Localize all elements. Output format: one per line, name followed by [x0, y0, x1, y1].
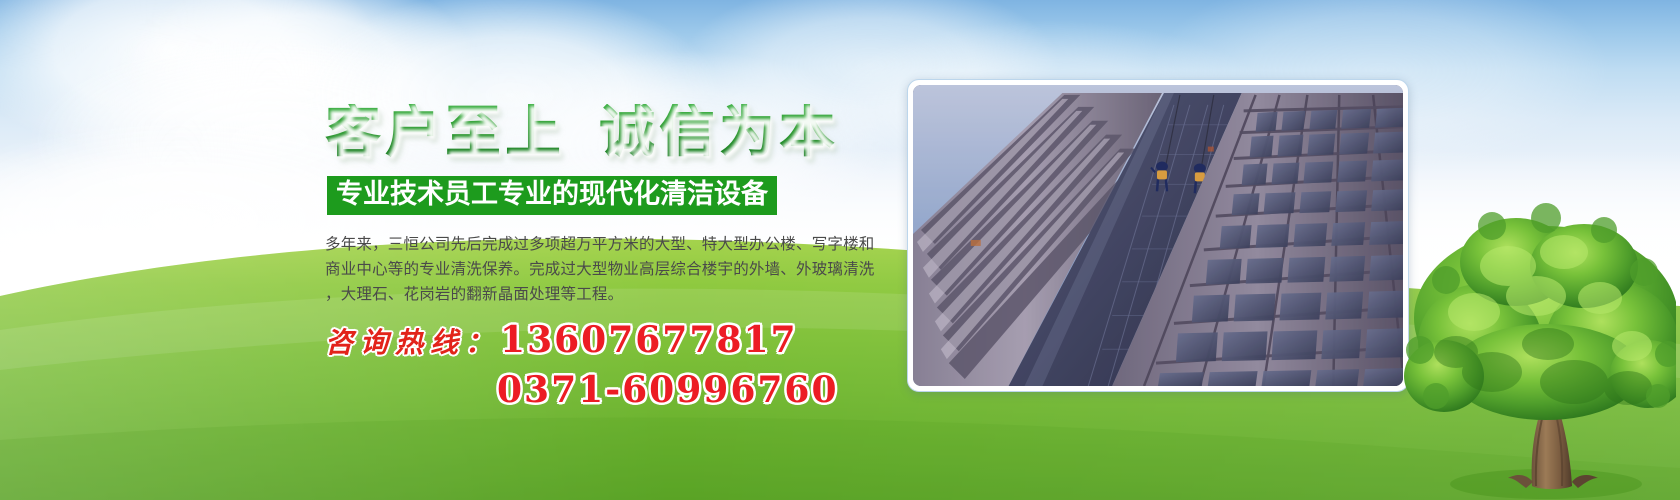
description-line: 商业中心等的专业清洗保养。完成过大型物业高层综合楼宇的外墙、外玻璃清洗: [325, 257, 895, 282]
page-title: 客户至上诚信为本: [325, 104, 839, 160]
hotline-mobile-number[interactable]: 13607677817: [500, 322, 798, 360]
landline-row: 0371-60996760: [325, 372, 845, 410]
headline-part1: 客户至上: [325, 99, 565, 165]
subtitle-bar: 专业技术员工专业的现代化清洁设备: [327, 176, 777, 215]
hotline-label: 咨询热线：: [325, 328, 500, 357]
description-paragraph: 多年来，三恒公司先后完成过多项超万平方米的大型、特大型办公楼、写字楼和 商业中心…: [325, 232, 895, 307]
hotline-landline-number[interactable]: 0371-60996760: [497, 372, 839, 410]
headline-part2: 诚信为本: [599, 99, 839, 165]
description-line: 多年来，三恒公司先后完成过多项超万平方米的大型、特大型办公楼、写字楼和: [325, 232, 895, 257]
building-photo: [913, 85, 1403, 386]
building-photo-card[interactable]: [907, 79, 1409, 392]
hotline-row: 咨询热线： 13607677817: [325, 322, 845, 360]
cloud-shape: [0, 0, 380, 160]
promo-banner: 客户至上诚信为本 专业技术员工专业的现代化清洁设备 多年来，三恒公司先后完成过多…: [0, 0, 1680, 500]
contact-block: 咨询热线： 13607677817 0371-60996760: [325, 322, 845, 410]
description-line: ，大理石、花岗岩的翻新晶面处理等工程。: [325, 282, 895, 307]
